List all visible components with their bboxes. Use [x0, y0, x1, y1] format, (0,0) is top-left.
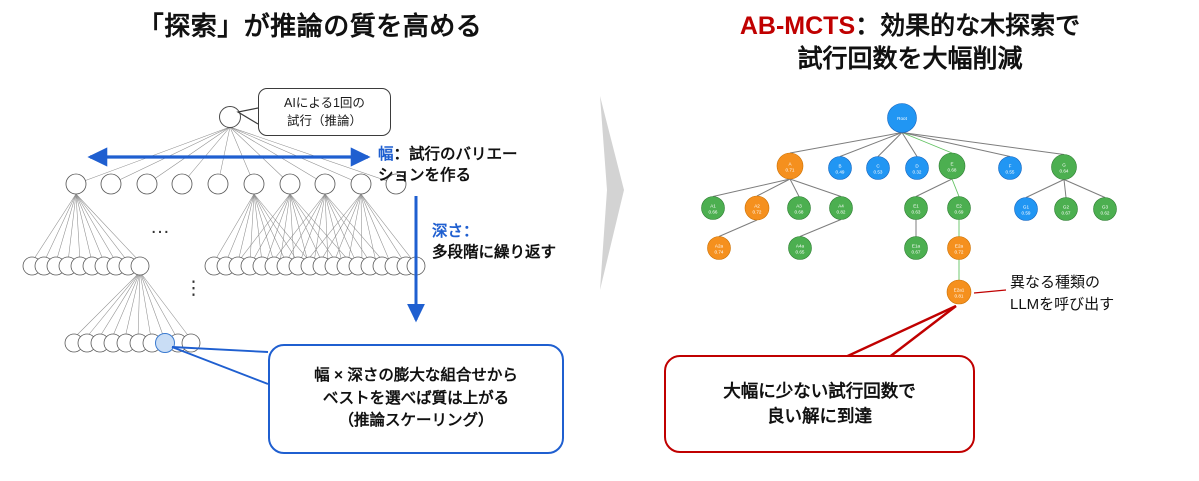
mcts-node-root[interactable]: Root	[888, 104, 917, 133]
mcts-edge	[902, 133, 917, 157]
mcts-node-value: 0.49	[836, 169, 845, 174]
depth-label-text: 多段階に繰り返す	[432, 244, 556, 261]
mcts-node-a2a[interactable]: A2a0.74	[708, 237, 731, 260]
title-line2: 試行回数を大幅削減	[797, 45, 1022, 73]
mcts-node-value: 0.69	[955, 209, 964, 214]
ai-bubble-tail	[238, 108, 258, 124]
depth-label: 深さ：多段階に繰り返す	[432, 222, 607, 264]
mcts-node-value: 0.67	[912, 249, 921, 254]
mcts-node-label: E2a1	[954, 288, 965, 293]
mcts-node-a2[interactable]: A20.72	[745, 196, 769, 220]
mcts-node-value: 0.55	[1006, 169, 1015, 174]
mcts-node-label: B	[838, 164, 841, 169]
mcts-node-label: A1	[710, 204, 716, 209]
mcts-node-value: 0.59	[1022, 210, 1031, 215]
mcts-node-a4a[interactable]: A4a0.65	[789, 237, 812, 260]
highlighted-leaf-node	[156, 334, 175, 353]
fewer-trials-callout: 大幅に少ない試行回数で良い解に到達	[664, 355, 975, 453]
mcts-node-c[interactable]: C0.53	[867, 157, 890, 180]
mcts-node-label: G1	[1023, 205, 1030, 210]
mcts-node-value: 0.74	[715, 249, 724, 254]
mcts-node-value: 0.53	[874, 169, 883, 174]
mcts-node-label: G	[1062, 163, 1066, 168]
mcts-edge	[1026, 180, 1064, 198]
mcts-node-value: 0.66	[709, 209, 718, 214]
mcts-node-f[interactable]: F0.55	[999, 157, 1022, 180]
mcts-node-e[interactable]: E0.68	[939, 153, 965, 179]
mcts-edge	[840, 133, 902, 157]
mcts-edge	[757, 179, 790, 196]
mcts-node-value: 0.65	[796, 249, 805, 254]
left-tree-nodes-level1	[66, 174, 406, 194]
left-tree-root-node	[220, 107, 241, 128]
mcts-node-value: 0.72	[753, 209, 762, 214]
depth-label-key: 深さ：	[432, 222, 607, 243]
mcts-node-value: 0.68	[795, 209, 804, 214]
mcts-node-label: A2a	[715, 244, 724, 249]
page-title-right: AB-MCTS：効果的な木探索で 試行回数を大幅削減	[650, 10, 1170, 75]
mcts-node-label: A4a	[796, 244, 805, 249]
slide-canvas: … ⋮ 「探索」が推論の質を高める AB-MCTS：効果的な木探索で 試行回数を…	[0, 0, 1199, 481]
mcts-node-g1[interactable]: G10.59	[1015, 198, 1038, 221]
mcts-node-label: E2	[956, 204, 962, 209]
mcts-node-label: C	[876, 164, 880, 169]
mcts-node-a[interactable]: A0.71	[777, 153, 803, 179]
mcts-node-label: A3	[796, 204, 802, 209]
mcts-node-value: 0.67	[1062, 210, 1071, 215]
width-label-text: ：試行のバリエーションを作る	[378, 146, 518, 184]
mcts-node-g[interactable]: G0.64	[1052, 155, 1077, 180]
width-label: 幅：試行のバリエーションを作る	[378, 145, 593, 187]
mcts-edge	[800, 220, 841, 237]
mcts-node-value: 0.32	[913, 169, 922, 174]
mcts-edge	[902, 133, 1064, 155]
mcts-node-e2a[interactable]: E2a0.72	[948, 237, 971, 260]
mcts-node-label: E2a	[955, 244, 964, 249]
mcts-node-label: A	[788, 162, 792, 167]
mcts-node-label: G3	[1102, 205, 1109, 210]
inference-scaling-callout: 幅 × 深さの膨大な組合せからベストを選べば質は上がる（推論スケーリング）	[268, 344, 564, 454]
mcts-node-g2[interactable]: G20.67	[1055, 198, 1078, 221]
mcts-node-g3[interactable]: G30.62	[1094, 198, 1117, 221]
mcts-edge	[1064, 180, 1105, 198]
mcts-node-e2[interactable]: E20.69	[948, 197, 971, 220]
mcts-node-d[interactable]: D0.32	[906, 157, 929, 180]
mcts-edge	[1064, 180, 1066, 198]
mcts-node-value: 0.72	[955, 249, 964, 254]
mcts-node-value: 0.82	[837, 209, 846, 214]
mcts-node-value: 0.71	[786, 167, 795, 172]
mcts-node-value: 0.64	[1060, 168, 1069, 173]
mcts-edges	[713, 133, 1105, 281]
ai-trial-bubble: AIによる1回の試行（推論）	[258, 88, 391, 136]
mcts-node-value: 0.68	[948, 167, 957, 172]
mcts-edge	[952, 179, 959, 197]
mcts-node-e1[interactable]: E10.63	[905, 197, 928, 220]
mcts-node-label: D	[915, 164, 919, 169]
mcts-node-label: Root	[897, 116, 907, 121]
mcts-node-label: E1	[913, 204, 919, 209]
ai-trial-bubble-text: AIによる1回の試行（推論）	[284, 94, 365, 130]
mcts-edge	[878, 133, 902, 157]
mcts-node-b[interactable]: B0.49	[829, 157, 852, 180]
mcts-edge	[916, 179, 952, 197]
callout-leader-b	[172, 347, 268, 352]
mcts-edge	[790, 179, 799, 197]
left-tree-edges	[32, 127, 414, 338]
mcts-edge	[719, 220, 757, 237]
page-title-left: 「探索」が推論の質を高める	[70, 10, 550, 43]
note-leader	[974, 290, 1006, 293]
mcts-node-value: 0.63	[912, 209, 921, 214]
mcts-node-value: 0.81	[955, 293, 964, 298]
fewer-trials-callout-text: 大幅に少ない試行回数で良い解に到達	[723, 379, 916, 430]
left-tree-nodes-level3	[65, 334, 200, 352]
ellipsis-horizontal: …	[150, 216, 175, 239]
mcts-node-e2a1[interactable]: E2a10.81	[947, 280, 971, 304]
mcts-edge	[790, 179, 841, 197]
left-tree-nodes-level2	[23, 257, 425, 275]
mcts-node-label: G2	[1063, 205, 1070, 210]
ellipsis-vertical: ⋮	[184, 282, 203, 295]
llm-note-text: 異なる種類のLLMを呼び出す	[1010, 274, 1114, 313]
mcts-edge	[902, 133, 952, 154]
mcts-node-a4[interactable]: A40.82	[830, 197, 853, 220]
mcts-node-label: F	[1009, 164, 1012, 169]
mcts-edge	[902, 133, 1010, 157]
title-rest: ：効果的な木探索で	[855, 12, 1080, 40]
width-label-key: 幅	[378, 146, 394, 163]
mcts-edge	[713, 179, 790, 197]
callout-leader-a	[172, 347, 268, 384]
mcts-node-a3[interactable]: A30.68	[788, 197, 811, 220]
mcts-node-label: E1a	[912, 244, 921, 249]
mcts-node-label: A2	[754, 204, 760, 209]
mcts-node-value: 0.62	[1101, 210, 1110, 215]
mcts-node-label: A4	[838, 204, 844, 209]
mcts-node-label: E	[950, 162, 953, 167]
mcts-node-a1[interactable]: A10.66	[702, 197, 725, 220]
mcts-node-e1a[interactable]: E1a0.67	[905, 237, 928, 260]
inference-scaling-callout-text: 幅 × 深さの膨大な組合せからベストを選べば質は上がる（推論スケーリング）	[314, 365, 518, 432]
llm-note: 異なる種類のLLMを呼び出す	[1010, 272, 1190, 316]
mcts-edge	[790, 133, 902, 154]
title-highlight: AB-MCTS	[740, 12, 855, 40]
